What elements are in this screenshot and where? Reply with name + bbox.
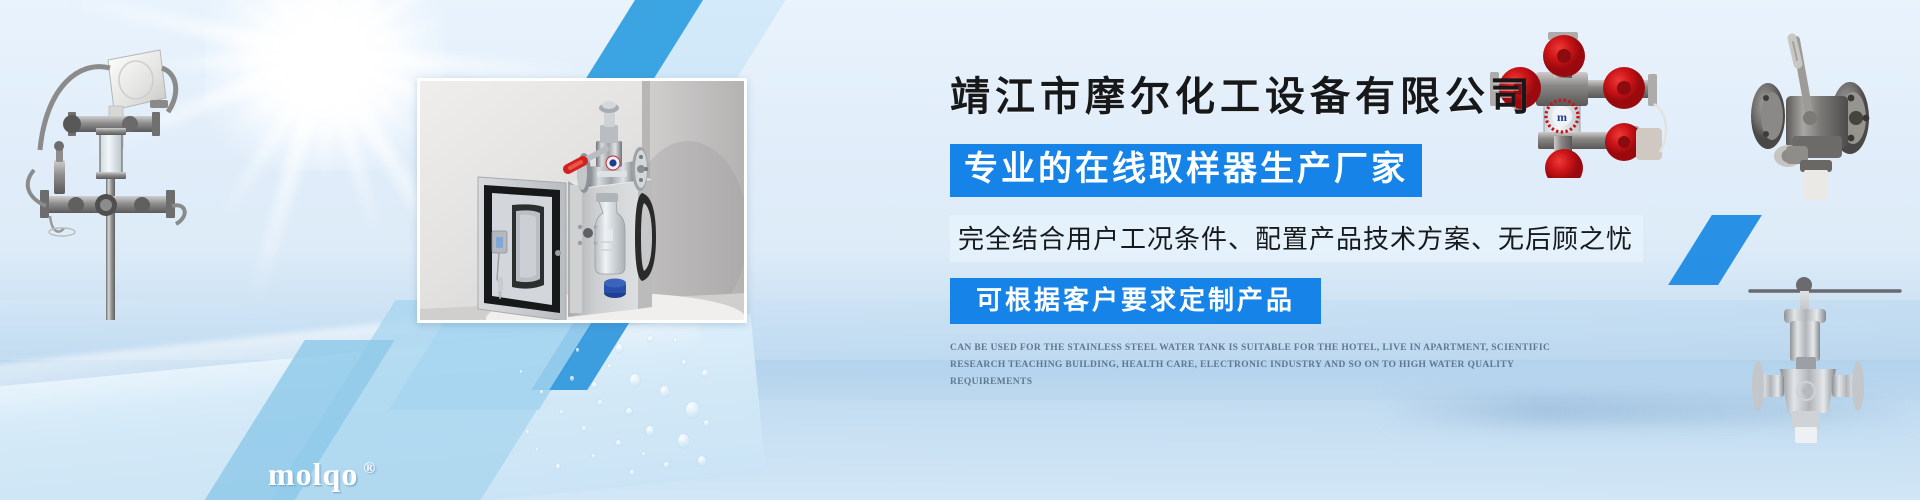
banner-copy: 靖江市摩尔化工设备有限公司 专业的在线取样器生产厂家 完全结合用户工况条件、配置… — [950, 72, 1710, 390]
water-droplet — [526, 430, 529, 434]
water-droplet — [570, 376, 574, 381]
water-droplet — [576, 348, 579, 352]
water-droplets — [330, 330, 710, 500]
lever-handle-sampling-valve — [1740, 265, 1920, 455]
water-droplet — [608, 364, 611, 368]
company-name: 靖江市摩尔化工设备有限公司 — [950, 72, 1710, 122]
water-droplet — [664, 462, 669, 468]
promotional-banner: m — [0, 0, 1920, 500]
registered-trademark-mark: ® — [363, 460, 376, 477]
water-droplet — [630, 470, 634, 475]
tagline-primary: 专业的在线取样器生产厂家 — [950, 144, 1422, 197]
water-droplet — [642, 452, 645, 456]
water-droplet — [592, 382, 597, 388]
water-droplet — [592, 454, 595, 458]
water-droplet — [678, 434, 689, 448]
lever-handle-flanged-valve — [1700, 18, 1920, 213]
brand-watermark: molqo® — [268, 458, 376, 490]
water-droplet — [646, 426, 654, 436]
tagline-secondary: 完全结合用户工况条件、配置产品技术方案、无后顾之忧 — [950, 215, 1643, 262]
water-droplet — [556, 464, 560, 469]
english-description: CAN BE USED FOR THE STAINLESS STEEL WATE… — [950, 340, 1570, 390]
water-droplet — [616, 440, 621, 446]
water-droplet — [648, 336, 653, 342]
water-droplet — [686, 402, 699, 418]
water-droplet — [704, 420, 709, 426]
tagline-tertiary: 可根据客户要求定制产品 — [950, 278, 1321, 325]
water-droplet — [582, 426, 586, 431]
online-sampler-cabinet-photo — [417, 78, 747, 323]
water-droplet — [660, 386, 669, 397]
water-droplet — [630, 374, 640, 387]
water-droplet — [598, 400, 602, 405]
water-droplet — [616, 344, 623, 353]
water-droplet — [702, 370, 708, 377]
pole-mounted-sampler-assembly — [10, 20, 210, 320]
water-droplet — [698, 456, 706, 466]
water-droplet — [536, 448, 538, 451]
water-droplet — [674, 338, 677, 342]
water-droplet — [682, 360, 686, 365]
watermark-text: molqo — [268, 456, 358, 492]
water-droplet — [626, 408, 632, 415]
water-droplet — [520, 370, 522, 373]
water-droplet — [560, 410, 563, 414]
water-droplet — [540, 390, 543, 394]
